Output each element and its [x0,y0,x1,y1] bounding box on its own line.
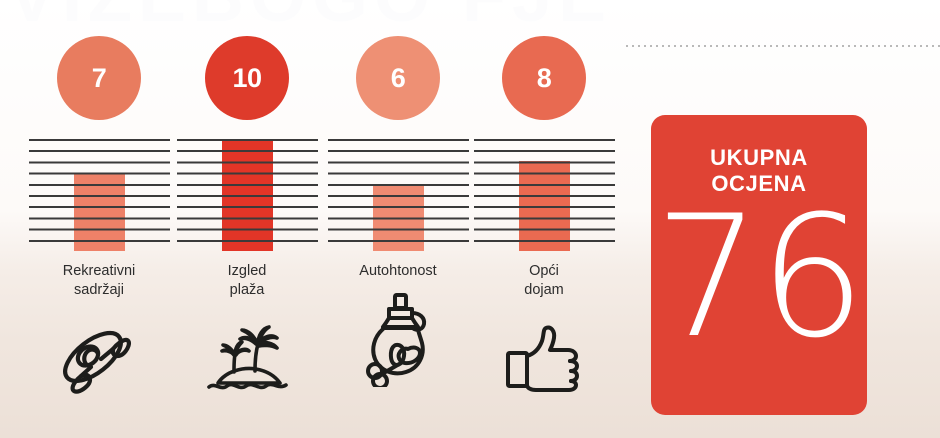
bar-panel-opci-dojam [474,139,615,251]
metric-column-autohtonost: 6 Autohtonost [324,36,472,382]
bar-grid-lines [474,139,615,251]
total-score-value: 76 [654,193,864,361]
bar-grid-lines [29,139,170,251]
score-value: 8 [537,65,552,92]
score-circle-opci-dojam: 8 [502,36,586,120]
metrics-group: 7 Rekreativni sadržaji [0,0,626,438]
palm-island-icon [173,316,321,402]
metric-column-izgled-plaza: 10 Izgled plaža [173,36,321,402]
bar-grid-lines [328,139,469,251]
olive-oil-jug-icon [324,296,472,382]
kayak-icon [25,316,173,402]
bar-panel-rekreativni-sadrzaji [29,139,170,251]
metric-column-opci-dojam: 8 Opći dojam [470,36,618,402]
infographic-canvas: VIZEBOGO FJE 7 Rekreativni sadržaji [0,0,940,438]
score-value: 7 [92,65,107,92]
label-line-2: plaža [173,281,321,300]
thumbs-up-icon [470,316,618,402]
label-line-1: Opći [470,262,618,281]
metric-label-rekreativni-sadrzaji: Rekreativni sadržaji [25,262,173,301]
bar-panel-autohtonost [328,139,469,251]
score-circle-izgled-plaza: 10 [205,36,289,120]
bar-grid-lines [177,139,318,251]
label-line-2: sadržaji [25,281,173,300]
total-score-card: UKUPNA OCJENA 76 [651,115,867,415]
label-line-1: Izgled [173,262,321,281]
metric-label-autohtonost: Autohtonost [324,262,472,281]
score-value: 6 [391,65,406,92]
score-circle-autohtonost: 6 [356,36,440,120]
metric-label-izgled-plaza: Izgled plaža [173,262,321,301]
score-circle-rekreativni-sadrzaji: 7 [57,36,141,120]
metric-label-opci-dojam: Opći dojam [470,262,618,301]
dotted-separator [626,45,940,47]
score-value: 10 [232,65,261,92]
label-line-1: Rekreativni [25,262,173,281]
metric-column-rekreativni-sadrzaji: 7 Rekreativni sadržaji [25,36,173,402]
bar-panel-izgled-plaza [177,139,318,251]
label-line-2: dojam [470,281,618,300]
label-line-1: Autohtonost [324,262,472,281]
